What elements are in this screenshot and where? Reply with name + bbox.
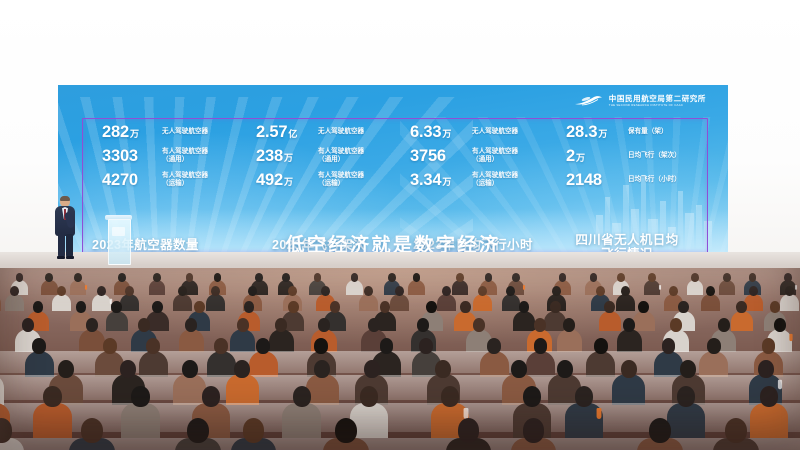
table-cup xyxy=(85,285,87,290)
stat-label: 有人驾驶航空器（通用） xyxy=(318,148,364,164)
acrylic-podium xyxy=(105,215,132,263)
audience-member-body xyxy=(633,311,655,331)
audience-member-head xyxy=(81,418,103,443)
audience-member-head xyxy=(460,301,471,313)
audience-member-body xyxy=(644,280,660,295)
audience-member-body xyxy=(52,294,71,311)
audience-member-body xyxy=(346,280,362,295)
audience-member-head xyxy=(45,273,53,282)
stat-row: 2万 日均飞行（架次） xyxy=(566,145,704,167)
stat-value: 2.57亿 xyxy=(256,123,318,142)
audience-member-head xyxy=(519,301,530,313)
audience-member-head xyxy=(111,301,122,313)
audience-member-head xyxy=(118,273,126,282)
audience-member-head xyxy=(623,318,635,332)
logo-name-cn: 中国民用航空局第二研究所 xyxy=(609,95,706,103)
audience-member-head xyxy=(485,273,493,282)
audience-member-head xyxy=(380,301,391,313)
audience-member-head xyxy=(511,360,527,378)
audience-member-head xyxy=(594,338,608,354)
audience-member-head xyxy=(214,273,222,282)
audience-member-head xyxy=(550,301,561,313)
audience-member-head xyxy=(76,301,87,313)
audience-member-head xyxy=(435,360,451,378)
audience-member-body xyxy=(731,311,753,331)
audience-member-body xyxy=(359,294,378,311)
stat-label: 有人驾驶航空器（运输） xyxy=(162,172,208,188)
audience-member-head xyxy=(534,318,546,332)
audience-member-head xyxy=(678,301,689,313)
audience-member-head xyxy=(760,386,778,407)
audience-member-body xyxy=(617,329,642,352)
stat-value: 6.33万 xyxy=(410,123,472,142)
audience-member-head xyxy=(244,301,255,313)
audience-member-head xyxy=(237,318,249,332)
audience-member-head xyxy=(43,386,61,407)
audience-member-head xyxy=(275,318,287,332)
stat-row: 4270 有人驾驶航空器（运输） xyxy=(102,169,242,191)
speaker-leg-left xyxy=(58,234,65,257)
stat-value: 282万 xyxy=(102,123,162,142)
audience-member-head xyxy=(351,273,359,282)
audience-member-head xyxy=(321,286,330,296)
audience-member-head xyxy=(22,318,34,332)
stat-value: 4270 xyxy=(102,171,162,190)
audience-member-head xyxy=(512,273,520,282)
audience-member-body xyxy=(120,294,139,311)
audience-member-head xyxy=(523,418,545,443)
audience-member-head xyxy=(120,360,136,378)
speaker-shoe-right xyxy=(66,256,74,259)
audience-member-body xyxy=(179,329,204,352)
audience-member-head xyxy=(194,301,205,313)
stat-value: 3756 xyxy=(410,147,472,166)
audience-member-body xyxy=(452,280,468,295)
audience-member-head xyxy=(234,360,250,378)
stat-value: 2148 xyxy=(566,171,628,190)
audience-member-head xyxy=(487,338,501,354)
audience-member-body xyxy=(616,294,635,311)
audience-member-head xyxy=(153,273,161,282)
audience-member-head xyxy=(86,318,98,332)
audience-member-body xyxy=(41,280,57,295)
table-cup xyxy=(523,285,525,290)
podium-emblem xyxy=(112,227,125,236)
stat-label: 有人驾驶航空器（通用） xyxy=(162,148,208,164)
audience-member-head xyxy=(762,338,776,354)
stat-label: 日均飞行（架次） xyxy=(628,152,681,160)
audience-member-head xyxy=(360,386,378,407)
stat-label: 有人驾驶航空器（通用） xyxy=(472,148,518,164)
audience-member-body xyxy=(667,403,705,438)
audience-member-body xyxy=(249,351,278,378)
stat-row: 2.57亿 无人驾驶航空器 xyxy=(256,121,396,143)
podium-body xyxy=(108,219,131,265)
audience-member-head xyxy=(718,318,730,332)
speaker-shoe-left xyxy=(57,256,65,259)
audience-member-body xyxy=(599,311,621,331)
audience-member-head xyxy=(255,273,263,282)
audience-member-body xyxy=(390,294,409,311)
audience-member-body xyxy=(33,403,71,438)
speaker-presenter xyxy=(52,196,78,260)
audience-member-body xyxy=(502,294,521,311)
audience-member-head xyxy=(288,286,297,296)
audience-member-head xyxy=(187,418,209,443)
audience-member-head xyxy=(364,360,380,378)
audience-member-head xyxy=(103,338,117,354)
audience-member-body xyxy=(557,329,582,352)
audience-member-head xyxy=(214,338,228,354)
logo-name-en: THE SECOND RESEARCH INSTITUTE OF CAAC xyxy=(609,104,706,107)
stat-row: 238万 有人驾驶航空器（通用） xyxy=(256,145,396,167)
audience-member-head xyxy=(32,338,46,354)
audience-member-body xyxy=(269,329,294,352)
audience-member-body xyxy=(526,351,555,378)
audience-member-head xyxy=(368,318,380,332)
audience-member-head xyxy=(736,301,747,313)
audience-member-head xyxy=(16,273,24,282)
audience-member-body xyxy=(5,294,24,311)
audience-member-head xyxy=(288,301,299,313)
audience-member-body xyxy=(750,403,788,438)
audience-member-body xyxy=(699,351,728,378)
caac-institute-logo: 中国民用航空局第二研究所 THE SECOND RESEARCH INSTITU… xyxy=(574,93,706,108)
stat-row: 3303 有人驾驶航空器（通用） xyxy=(102,145,242,167)
audience-member-head xyxy=(314,338,328,354)
audience-member-head xyxy=(243,418,265,443)
speaker-hair xyxy=(60,196,70,201)
table-cup xyxy=(597,408,602,419)
audience-member-head xyxy=(335,418,357,443)
audience-member-head xyxy=(138,318,150,332)
audience-member-head xyxy=(723,273,731,282)
audience-member-head xyxy=(456,273,464,282)
stat-row: 3756 有人驾驶航空器（通用） xyxy=(410,145,550,167)
audience-member-body xyxy=(687,280,703,295)
audience-member-head xyxy=(473,318,485,332)
audience-member-head xyxy=(680,360,696,378)
audience-member-body xyxy=(25,351,54,378)
stat-value: 238万 xyxy=(256,147,318,166)
audience-member-head xyxy=(186,273,194,282)
audience-member-head xyxy=(182,360,198,378)
audience-member-head xyxy=(534,338,548,354)
audience-member-head xyxy=(33,301,44,313)
audience-member-head xyxy=(617,273,625,282)
audience-member-body xyxy=(92,294,111,311)
audience-member-body xyxy=(139,351,168,378)
audience-member-head xyxy=(314,273,322,282)
audience-member-head xyxy=(575,386,593,407)
audience-member-head xyxy=(419,338,433,354)
audience-member-body xyxy=(70,280,86,295)
stat-value: 28.3万 xyxy=(566,123,628,142)
audience-member-head xyxy=(413,273,421,282)
audience-member-body xyxy=(701,294,720,311)
audience-member-body xyxy=(206,294,225,311)
audience-member-head xyxy=(758,360,774,378)
stat-value: 492万 xyxy=(256,171,318,190)
audience-member-body xyxy=(719,280,735,295)
audience-member-head xyxy=(318,318,330,332)
audience-area xyxy=(0,268,800,450)
audience-member-head xyxy=(662,338,676,354)
audience-member-head xyxy=(202,386,220,407)
audience-member-body xyxy=(473,294,492,311)
audience-member-head xyxy=(677,386,695,407)
stat-row: 6.33万 无人驾驶航空器 xyxy=(410,121,550,143)
audience-member-head xyxy=(670,318,682,332)
audience-member-head xyxy=(638,301,649,313)
led-presentation-screen: 中国民用航空局第二研究所 THE SECOND RESEARCH INSTITU… xyxy=(58,85,728,267)
table-cup xyxy=(659,285,661,290)
audience-member-head xyxy=(458,418,480,443)
stat-label: 无人驾驶航空器 xyxy=(162,128,208,136)
stat-row: 282万 无人驾驶航空器 xyxy=(102,121,242,143)
audience-member-head xyxy=(770,301,781,313)
stat-value: 3.34万 xyxy=(410,171,472,190)
audience-member-head xyxy=(282,273,290,282)
stat-label: 无人驾驶航空器 xyxy=(472,128,518,136)
audience-member-head xyxy=(380,338,394,354)
audience-member-body xyxy=(149,280,165,295)
screenshot-root: 中国民用航空局第二研究所 THE SECOND RESEARCH INSTITU… xyxy=(0,0,800,450)
audience-member-head xyxy=(621,360,637,378)
audience-member-body xyxy=(654,351,683,378)
audience-member-body xyxy=(106,311,128,331)
stat-label: 有人驾驶航空器（运输） xyxy=(472,172,518,188)
stat-row: 3.34万 有人驾驶航空器（运输） xyxy=(410,169,550,191)
audience-member-head xyxy=(604,301,615,313)
audience-member-head xyxy=(58,360,74,378)
audience-member-head xyxy=(523,386,541,407)
audience-member-head xyxy=(691,273,699,282)
audience-member-body xyxy=(207,351,236,378)
audience-member-body xyxy=(306,374,339,404)
aircraft-swoosh-icon xyxy=(574,93,604,108)
audience-member-body xyxy=(79,329,104,352)
audience-member-head xyxy=(707,338,721,354)
audience-member-head xyxy=(725,418,747,443)
audience-member-head xyxy=(557,360,573,378)
audience-member-head xyxy=(590,273,598,282)
audience-member-head xyxy=(330,301,341,313)
audience-member-head xyxy=(211,286,220,296)
table-cup xyxy=(795,285,797,290)
audience-member-head xyxy=(178,286,187,296)
audience-member-head xyxy=(131,386,149,407)
audience-member-head xyxy=(559,273,567,282)
audience-member-head xyxy=(74,273,82,282)
stat-row: 28.3万 保有量（架） xyxy=(566,121,704,143)
audience-member-head xyxy=(649,418,671,443)
audience-member-head xyxy=(426,301,437,313)
audience-member-head xyxy=(669,286,678,296)
audience-member-head xyxy=(441,386,459,407)
audience-member-head xyxy=(621,286,630,296)
stat-label: 保有量（架） xyxy=(628,128,668,136)
audience-member-body xyxy=(226,374,259,404)
table-cup xyxy=(778,379,782,388)
audience-member-body xyxy=(437,294,456,311)
audience-member-body xyxy=(586,351,615,378)
audience-member-head xyxy=(749,286,758,296)
audience-member-head xyxy=(146,338,160,354)
audience-member-body xyxy=(408,280,424,295)
speaker-leg-right xyxy=(66,234,73,257)
audience-member-body xyxy=(282,403,320,438)
table-cup xyxy=(789,334,792,341)
audience-member-head xyxy=(314,360,330,378)
stat-row: 492万 有人驾驶航空器（运输） xyxy=(256,169,396,191)
stat-label: 无人驾驶航空器 xyxy=(318,128,364,136)
audience-member-head xyxy=(749,273,757,282)
audience-member-head xyxy=(388,273,396,282)
audience-member-body xyxy=(780,294,799,311)
audience-member-head xyxy=(293,386,311,407)
audience-member-body xyxy=(146,311,168,331)
audience-member-head xyxy=(648,273,656,282)
audience-member-head xyxy=(185,318,197,332)
stat-label: 有人驾驶航空器（运输） xyxy=(318,172,364,188)
stat-value: 3303 xyxy=(102,147,162,166)
audience-member-body xyxy=(612,374,645,404)
audience-member-head xyxy=(417,318,429,332)
audience-member-body xyxy=(121,403,159,438)
audience-member-body xyxy=(480,351,509,378)
audience-member-head xyxy=(152,301,163,313)
stat-row: 2148 日均飞行（小时） xyxy=(566,169,704,191)
audience-member-body xyxy=(513,311,535,331)
audience-member-body xyxy=(173,374,206,404)
stat-value: 2万 xyxy=(566,147,628,166)
audience-member-head xyxy=(784,273,792,282)
stat-label: 日均飞行（小时） xyxy=(628,176,681,184)
audience-member-body xyxy=(230,329,255,352)
audience-member-body xyxy=(173,294,192,311)
audience-member-head xyxy=(563,318,575,332)
audience-member-head xyxy=(256,338,270,354)
audience-member-head xyxy=(774,318,786,332)
